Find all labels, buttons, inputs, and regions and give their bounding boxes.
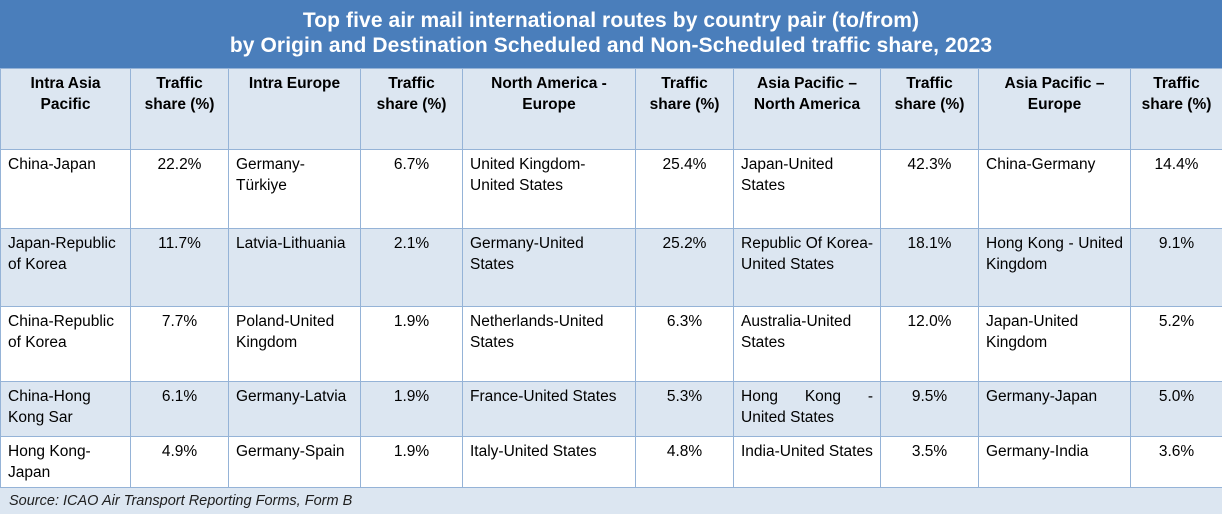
- cell-route: France-United States: [463, 382, 636, 437]
- cell-share: 25.2%: [636, 229, 734, 307]
- column-header-traffic-share-4: Traffic share (%): [881, 69, 979, 150]
- cell-share: 11.7%: [131, 229, 229, 307]
- cell-route: Hong Kong-Japan: [1, 437, 131, 488]
- table-body: China-Japan 22.2% Germany-Türkiye 6.7% U…: [1, 150, 1222, 488]
- column-header-intra-asia-pacific: Intra Asia Pacific: [1, 69, 131, 150]
- cell-share: 6.1%: [131, 382, 229, 437]
- cell-route: Republic Of Korea-United States: [734, 229, 881, 307]
- cell-route: China-Japan: [1, 150, 131, 229]
- cell-route: Poland-United Kingdom: [229, 307, 361, 382]
- cell-share: 6.7%: [361, 150, 463, 229]
- cell-share: 3.6%: [1131, 437, 1222, 488]
- cell-route: Italy-United States: [463, 437, 636, 488]
- cell-share: 14.4%: [1131, 150, 1222, 229]
- air-mail-routes-table: Intra Asia Pacific Traffic share (%) Int…: [0, 68, 1222, 488]
- cell-share: 4.9%: [131, 437, 229, 488]
- cell-route: Germany-Spain: [229, 437, 361, 488]
- table-row: Hong Kong-Japan 4.9% Germany-Spain 1.9% …: [1, 437, 1222, 488]
- cell-share: 5.2%: [1131, 307, 1222, 382]
- cell-route: Germany-Japan: [979, 382, 1131, 437]
- cell-share: 9.1%: [1131, 229, 1222, 307]
- header-row: Intra Asia Pacific Traffic share (%) Int…: [1, 69, 1222, 150]
- column-header-traffic-share-5: Traffic share (%): [1131, 69, 1222, 150]
- cell-share: 1.9%: [361, 437, 463, 488]
- cell-route: Hong Kong - United States: [734, 382, 881, 437]
- cell-share: 3.5%: [881, 437, 979, 488]
- cell-share: 4.8%: [636, 437, 734, 488]
- figure-title-line-2: by Origin and Destination Scheduled and …: [230, 34, 992, 59]
- column-header-asia-pacific-north-america: Asia Pacific – North America: [734, 69, 881, 150]
- cell-route: China-Republic of Korea: [1, 307, 131, 382]
- cell-route: China-Germany: [979, 150, 1131, 229]
- cell-route: China-Hong Kong Sar: [1, 382, 131, 437]
- figure-title-line-1: Top five air mail international routes b…: [303, 9, 919, 34]
- cell-share: 7.7%: [131, 307, 229, 382]
- cell-route: Japan-Republic of Korea: [1, 229, 131, 307]
- cell-route: Germany-United States: [463, 229, 636, 307]
- table-row: China-Japan 22.2% Germany-Türkiye 6.7% U…: [1, 150, 1222, 229]
- table-row: Japan-Republic of Korea 11.7% Latvia-Lit…: [1, 229, 1222, 307]
- cell-route: United Kingdom-United States: [463, 150, 636, 229]
- cell-route: Netherlands-United States: [463, 307, 636, 382]
- cell-share: 5.0%: [1131, 382, 1222, 437]
- cell-route: Australia-United States: [734, 307, 881, 382]
- cell-share: 12.0%: [881, 307, 979, 382]
- cell-share: 5.3%: [636, 382, 734, 437]
- air-mail-routes-table-figure: Top five air mail international routes b…: [0, 0, 1222, 511]
- cell-route: Germany-Latvia: [229, 382, 361, 437]
- column-header-asia-pacific-europe: Asia Pacific – Europe: [979, 69, 1131, 150]
- source-note: Source: ICAO Air Transport Reporting For…: [9, 493, 352, 509]
- cell-share: 22.2%: [131, 150, 229, 229]
- column-header-traffic-share-3: Traffic share (%): [636, 69, 734, 150]
- column-header-traffic-share-1: Traffic share (%): [131, 69, 229, 150]
- cell-share: 25.4%: [636, 150, 734, 229]
- table-row: China-Hong Kong Sar 6.1% Germany-Latvia …: [1, 382, 1222, 437]
- cell-share: 1.9%: [361, 307, 463, 382]
- cell-route: India-United States: [734, 437, 881, 488]
- cell-share: 1.9%: [361, 382, 463, 437]
- table-row: China-Republic of Korea 7.7% Poland-Unit…: [1, 307, 1222, 382]
- cell-route: Japan-United States: [734, 150, 881, 229]
- figure-title-banner: Top five air mail international routes b…: [0, 0, 1222, 68]
- source-bar: Source: ICAO Air Transport Reporting For…: [0, 488, 1222, 514]
- table-header: Intra Asia Pacific Traffic share (%) Int…: [1, 69, 1222, 150]
- cell-route: Hong Kong - United Kingdom: [979, 229, 1131, 307]
- cell-share: 18.1%: [881, 229, 979, 307]
- column-header-intra-europe: Intra Europe: [229, 69, 361, 150]
- cell-route: Japan-United Kingdom: [979, 307, 1131, 382]
- column-header-traffic-share-2: Traffic share (%): [361, 69, 463, 150]
- cell-share: 6.3%: [636, 307, 734, 382]
- cell-share: 9.5%: [881, 382, 979, 437]
- column-header-north-america-europe: North America - Europe: [463, 69, 636, 150]
- cell-route: Germany-India: [979, 437, 1131, 488]
- cell-share: 42.3%: [881, 150, 979, 229]
- cell-route: Germany-Türkiye: [229, 150, 361, 229]
- cell-share: 2.1%: [361, 229, 463, 307]
- cell-route: Latvia-Lithuania: [229, 229, 361, 307]
